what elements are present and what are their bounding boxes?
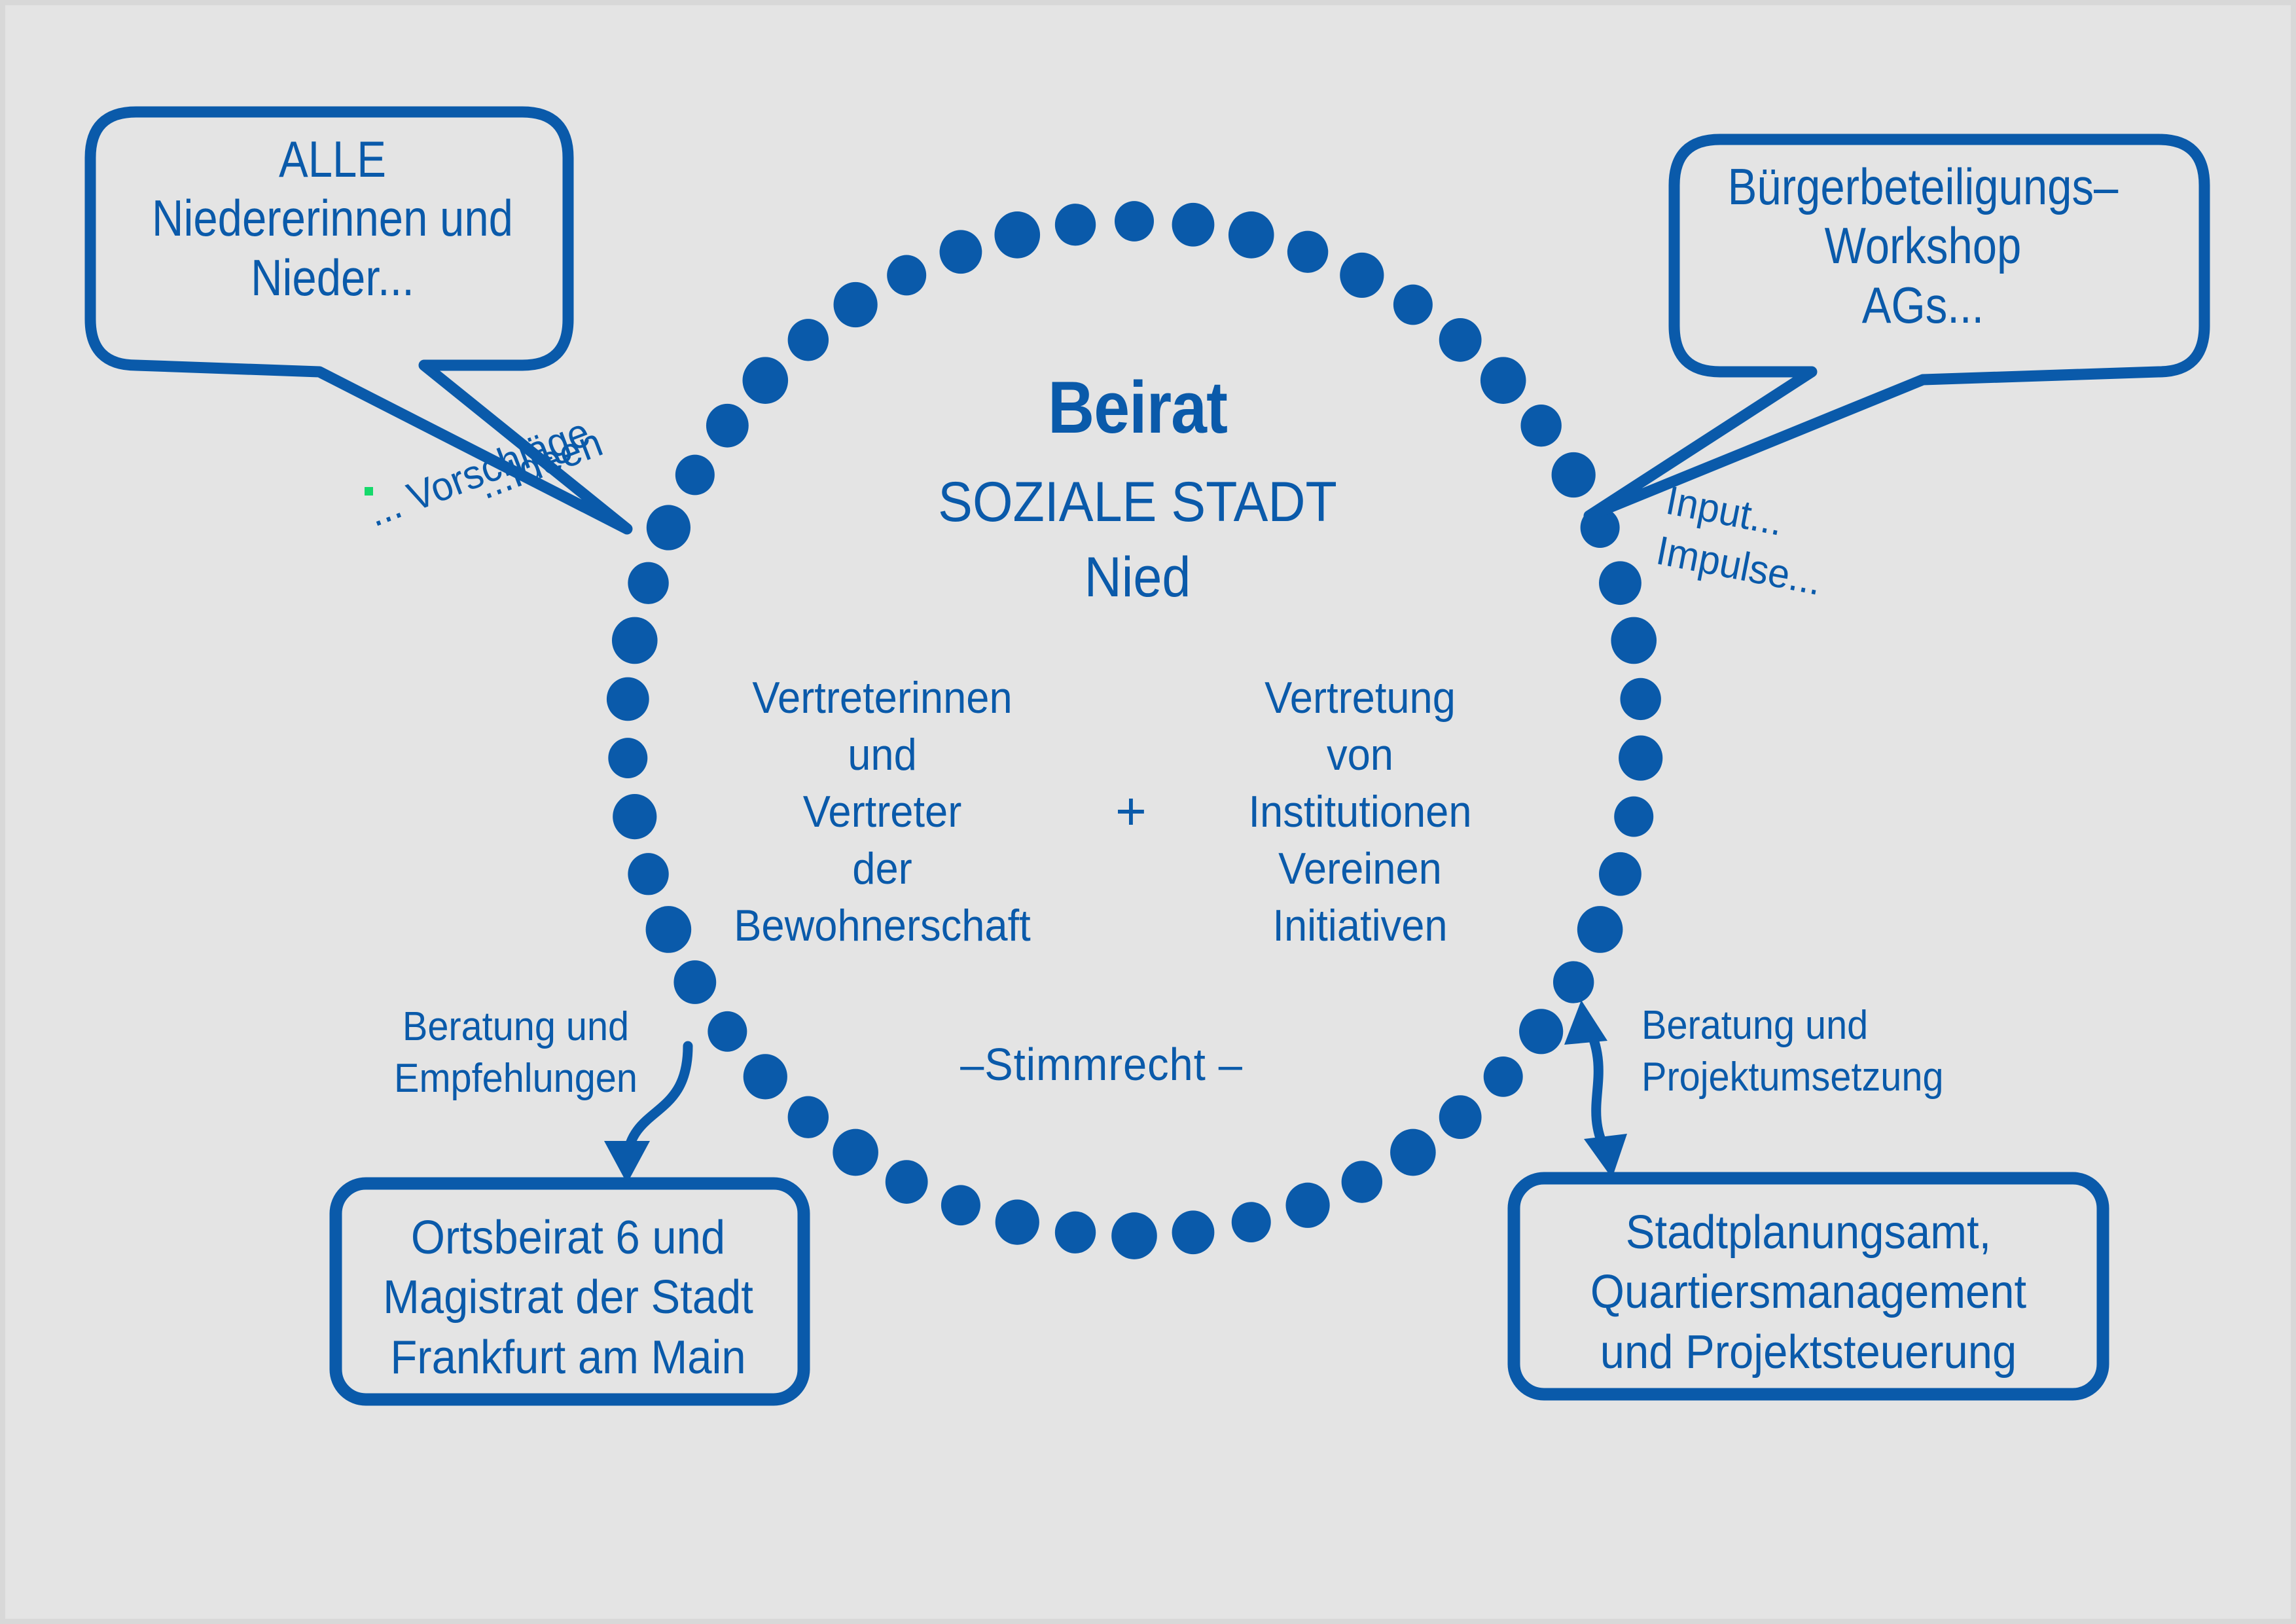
- circle-dot: [1232, 1202, 1271, 1242]
- circle-dot: [628, 562, 668, 604]
- box-left-label: Ortsbeirat 6 und Magistrat der Stadt Fra…: [355, 1208, 781, 1388]
- circle-dot: [675, 455, 715, 496]
- center-subtitle-line1: SOZIALE STADT: [836, 470, 1439, 535]
- circle-dot: [706, 404, 749, 448]
- circle-dot: [941, 1185, 980, 1225]
- circle-dot: [996, 1200, 1039, 1245]
- circle-dot: [1577, 906, 1623, 953]
- page-title: Beirat: [850, 365, 1426, 450]
- circle-dot: [744, 1054, 787, 1099]
- circle-dot: [886, 1160, 928, 1204]
- circle-dot: [1439, 318, 1482, 362]
- arrow-bottom-right: [1564, 1000, 1627, 1178]
- circle-dot: [1552, 452, 1596, 497]
- circle-dot: [1285, 1183, 1329, 1228]
- circle-dot: [1055, 204, 1096, 245]
- members-column-institutions: Vertretung von Institutionen Vereinen In…: [1220, 670, 1500, 954]
- circle-dot: [1614, 797, 1653, 837]
- circle-dot: [788, 319, 829, 361]
- circle-dot: [708, 1011, 747, 1052]
- circle-dot: [1519, 1009, 1563, 1054]
- circle-dot: [1229, 211, 1274, 259]
- circle-dot: [1115, 201, 1154, 242]
- circle-dot: [1484, 1056, 1523, 1097]
- arrow-label-bottom-left: Beratung und Empfehlungen: [385, 1001, 647, 1104]
- circle-dot: [1520, 405, 1561, 446]
- circle-dot: [613, 794, 656, 839]
- bubble-right-label: Bürgerbeteiligungs– Workshop AGs...: [1715, 157, 2131, 334]
- members-column-residents: Vertreterinnen und Vertreter der Bewohne…: [724, 670, 1041, 954]
- circle-dot: [1599, 561, 1641, 605]
- circle-dot: [742, 357, 788, 404]
- circle-dot: [1340, 253, 1384, 298]
- circle-dot: [1055, 1212, 1096, 1254]
- circle-dot: [673, 960, 716, 1004]
- circle-dot: [833, 1129, 878, 1176]
- circle-dot: [646, 906, 692, 953]
- circle-dot: [1342, 1161, 1382, 1202]
- circle-dot: [834, 282, 878, 327]
- arrow-label-bottom-right: Beratung und Projektumsetzung: [1641, 1000, 1958, 1103]
- bubble-left-label: ALLE Niedererinnen und Nieder...: [130, 130, 535, 307]
- voting-rights-note: –Stimmrecht –: [906, 1038, 1296, 1091]
- circle-dot: [647, 505, 691, 550]
- circle-dot: [612, 617, 658, 664]
- circle-dot: [1439, 1095, 1482, 1139]
- circle-dot: [788, 1096, 829, 1138]
- circle-dot: [1611, 617, 1657, 664]
- plus-icon: +: [1079, 781, 1183, 842]
- circle-dot: [1172, 203, 1215, 247]
- box-right-label: Stadtplanungsamt, Quartiersmanagement un…: [1537, 1203, 2079, 1382]
- diagram-canvas: ALLE Niedererinnen und Nieder... Bürgerb…: [5, 5, 2291, 1619]
- circle-dot: [607, 677, 649, 721]
- circle-dot: [940, 230, 982, 274]
- circle-dot: [994, 211, 1040, 259]
- circle-dot: [608, 738, 647, 778]
- circle-dot: [1172, 1210, 1215, 1254]
- circle-dot: [1111, 1212, 1157, 1259]
- circle-dot: [1480, 357, 1526, 404]
- circle-dot: [1619, 735, 1662, 780]
- circle-dot: [1553, 961, 1594, 1003]
- center-subtitle-line2: Nied: [836, 545, 1439, 610]
- circle-dot: [1287, 231, 1328, 273]
- circle-dot: [1620, 678, 1660, 720]
- circle-dot: [1390, 1129, 1436, 1176]
- circle-dot: [887, 255, 926, 296]
- circle-dot: [1393, 285, 1433, 325]
- circle-dot: [628, 853, 668, 895]
- circle-dot: [1599, 852, 1641, 896]
